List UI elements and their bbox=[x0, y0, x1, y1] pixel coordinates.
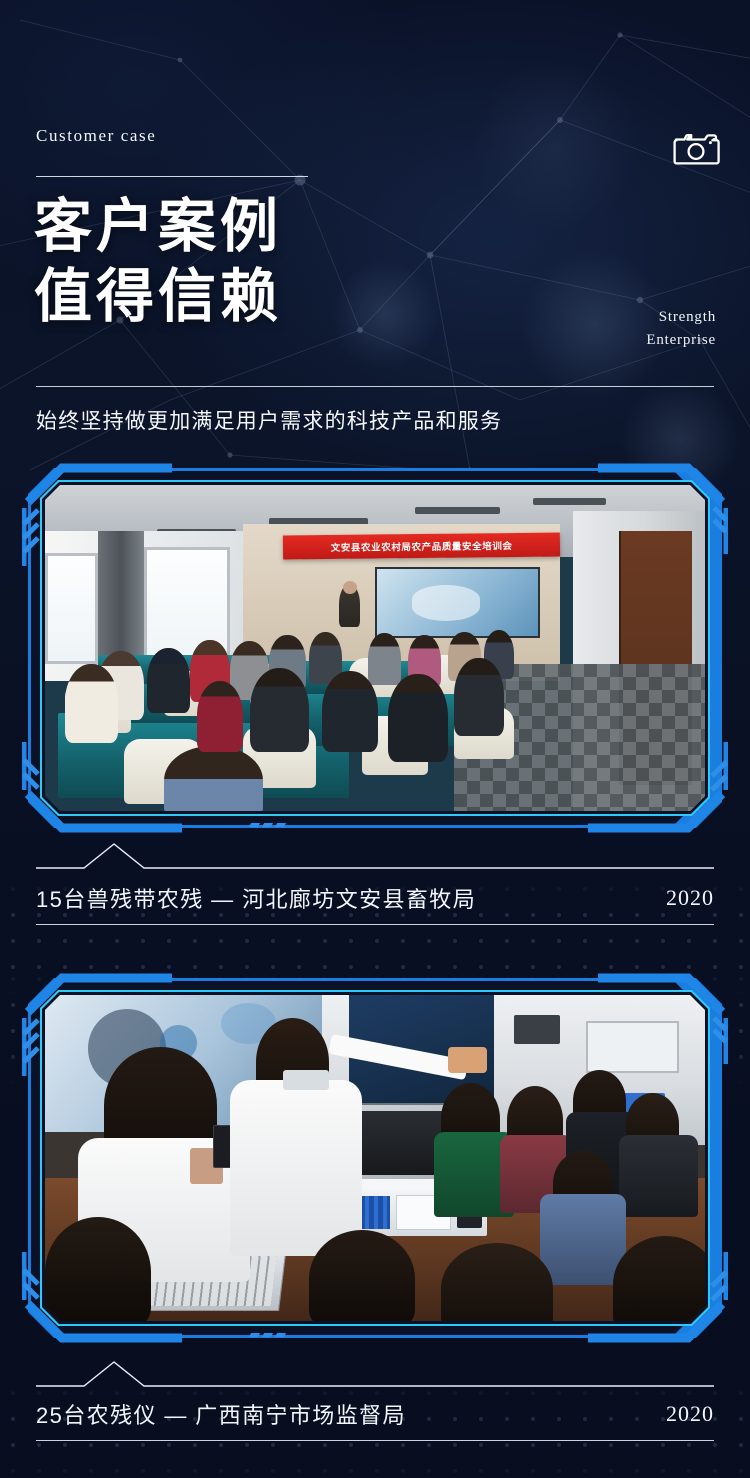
page-root: Customer case 客户案例 值得信赖 Strength Enterpr… bbox=[0, 0, 750, 1478]
case-block-1: 文安县农业农村局农产品质量安全培训会 bbox=[0, 468, 750, 828]
photo-banner-text-1: 文安县农业农村局农产品质量安全培训会 bbox=[282, 532, 559, 559]
page-title-line-2: 值得信赖 bbox=[34, 262, 454, 332]
case-year-1: 2020 bbox=[666, 885, 714, 911]
page-title-line-1: 客户案例 bbox=[34, 192, 454, 262]
case-photo-1: 文安县农业农村局农产品质量安全培训会 bbox=[45, 485, 705, 811]
eyebrow-label: Customer case bbox=[36, 126, 156, 146]
case-caption-2: 25台农残仪 — 广西南宁市场监督局 2020 bbox=[36, 1388, 714, 1440]
strength-enterprise-label: Strength Enterprise bbox=[506, 306, 716, 352]
case-year-2: 2020 bbox=[666, 1401, 714, 1427]
photo-frame-2 bbox=[28, 978, 722, 1338]
bokeh-glow bbox=[470, 60, 640, 230]
case-caption-1: 15台兽残带农残 — 河北廊坊文安县畜牧局 2020 bbox=[36, 872, 714, 924]
case-caption-text-2: 25台农残仪 — 广西南宁市场监督局 bbox=[36, 1398, 406, 1430]
caption-peak-divider-2 bbox=[36, 1356, 714, 1390]
page-subtitle: 始终坚持做更加满足用户需求的科技产品和服务 bbox=[36, 405, 502, 435]
page-title: 客户案例 值得信赖 bbox=[34, 192, 454, 332]
strength-line-2: Enterprise bbox=[506, 329, 716, 352]
case-caption-text-1: 15台兽残带农残 — 河北廊坊文安县畜牧局 bbox=[36, 882, 476, 914]
case-divider-2 bbox=[36, 1440, 714, 1441]
header-divider bbox=[36, 176, 308, 177]
case-divider-1 bbox=[36, 924, 714, 925]
caption-peak-divider-1 bbox=[36, 838, 714, 872]
case-photo-2 bbox=[45, 995, 705, 1321]
camera-icon bbox=[672, 128, 720, 168]
case-block-2: 25台农残仪 — 广西南宁市场监督局 2020 bbox=[0, 978, 750, 1338]
photo-frame-1: 文安县农业农村局农产品质量安全培训会 bbox=[28, 468, 722, 828]
header-wide-divider bbox=[36, 386, 714, 387]
strength-line-1: Strength bbox=[506, 306, 716, 329]
